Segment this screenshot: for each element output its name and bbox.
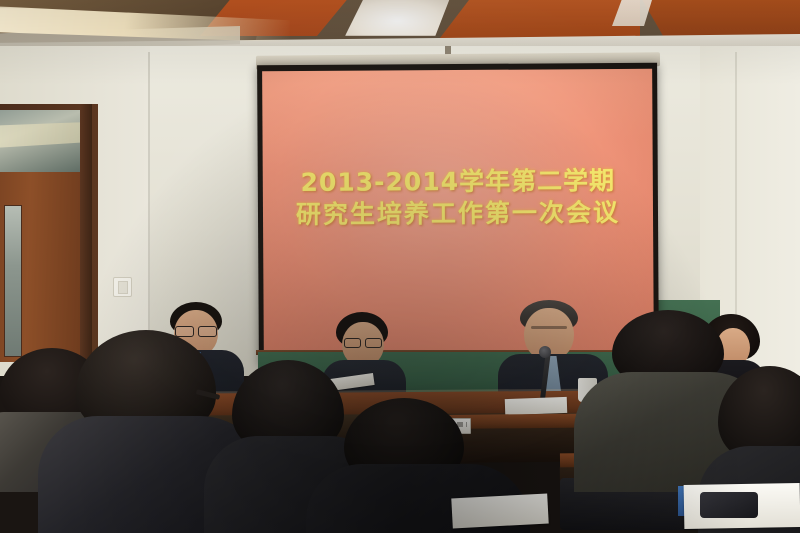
wall-seam-right — [735, 52, 737, 352]
brow — [531, 326, 567, 329]
slide-title-line-1: 2013-2014学年第二学期 — [263, 165, 653, 199]
light-switch[interactable] — [113, 277, 132, 297]
wall-seam-left — [148, 52, 150, 372]
ceiling-light-panel-1 — [345, 0, 450, 36]
document-panel-speaker — [505, 397, 568, 415]
door-jamb — [80, 104, 92, 362]
phone-foreground-right — [700, 492, 758, 518]
slide-title-block: 2013-2014学年第二学期 研究生培养工作第一次会议 — [263, 165, 653, 231]
document-foreground-center — [451, 494, 548, 529]
slide-title-line-2: 研究生培养工作第一次会议 — [263, 197, 653, 231]
ceiling-accent-panel-2 — [440, 0, 640, 38]
door-vision-panel — [4, 205, 22, 357]
microphone-icon — [539, 346, 551, 358]
glasses-icon — [344, 338, 382, 346]
meeting-room-photo: 2013-2014学年第二学期 研究生培养工作第一次会议 — [0, 0, 800, 533]
